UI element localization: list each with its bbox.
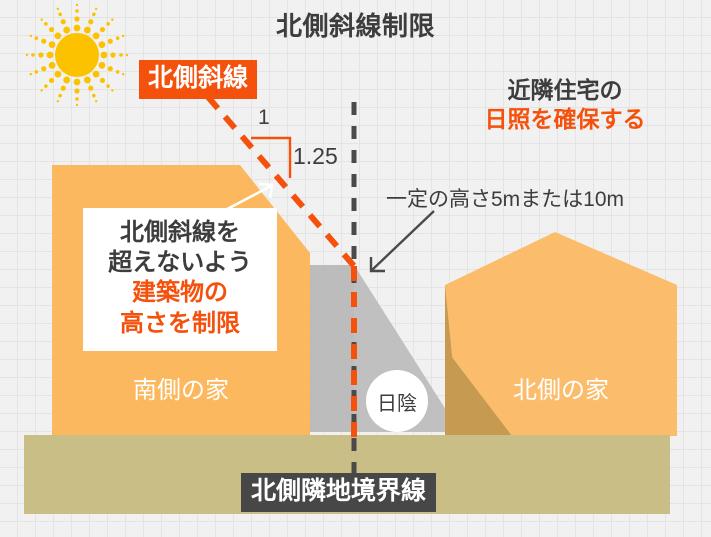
ratio-run-label: 1.25 bbox=[293, 145, 338, 168]
height-restriction-callout: 北側斜線を 超えないよう 建築物の 高さを制限 bbox=[83, 208, 277, 351]
shade-label: 日陰 bbox=[377, 387, 417, 416]
neighbor-note-line1: 近隣住宅の bbox=[508, 77, 623, 103]
callout-line-2: 超えないよう bbox=[83, 248, 277, 278]
ratio-rise-label: 1 bbox=[258, 107, 270, 128]
north-house-label: 北側の家 bbox=[445, 378, 677, 404]
callout-line-3: 建築物の bbox=[83, 278, 277, 308]
base-height-note: 一定の高さ5mまたは10m bbox=[386, 188, 624, 211]
page-title: 北側斜線制限 bbox=[0, 12, 711, 41]
neighbor-note-line2: 日照を確保する bbox=[437, 105, 693, 134]
neighbor-sunlight-note: 近隣住宅の 日照を確保する bbox=[437, 76, 693, 135]
diagram-canvas: 北側斜線制限 北側斜線 1 1.25 近隣住宅の 日照を確保する 一定の高さ5m… bbox=[0, 0, 711, 537]
arrow-down-left-icon bbox=[371, 211, 434, 271]
slope-line-chip: 北側斜線 bbox=[139, 60, 257, 99]
callout-line-1: 北側斜線を bbox=[83, 218, 277, 248]
south-house-label: 南側の家 bbox=[52, 378, 310, 404]
shade-bubble: 日陰 bbox=[366, 370, 428, 432]
boundary-line-label: 北側隣地境界線 bbox=[241, 473, 436, 512]
callout-line-4: 高さを制限 bbox=[83, 309, 277, 339]
